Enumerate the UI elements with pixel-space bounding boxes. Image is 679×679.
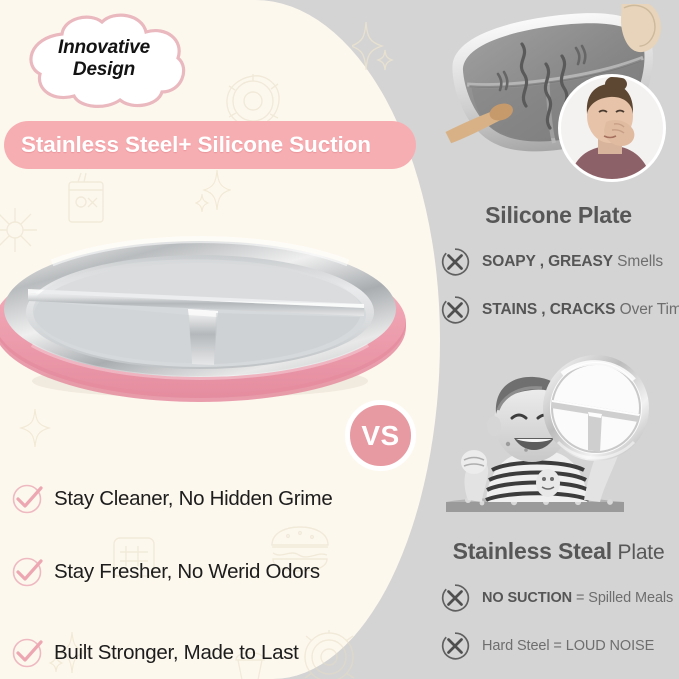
benefit-label: Stay Fresher, No Werid Odors	[54, 560, 320, 584]
list-item: Stay Fresher, No Werid Odors	[0, 545, 400, 598]
con-label: SOAPY , GREASY Smells	[482, 253, 663, 271]
list-item: STAINS , CRACKS Over Time	[438, 295, 679, 325]
bubble-line-2: Design	[73, 59, 135, 81]
list-item: NO SUCTION = Spilled Meals	[438, 583, 679, 613]
con-label: Hard Steel = LOUD NOISE	[482, 638, 654, 654]
benefits-list: Stay Cleaner, No Hidden Grime Stay Fresh…	[0, 472, 400, 679]
list-item: Hard Steel = LOUD NOISE	[438, 631, 679, 661]
silicone-plate-with-odor-photo	[438, 4, 679, 194]
baby-holding-steel-plate-photo	[438, 350, 679, 532]
x-circle-icon	[440, 247, 470, 277]
con-label-bold: STAINS , CRACKS	[482, 301, 615, 318]
con-label-normal: Smells	[613, 253, 663, 270]
list-item: SOAPY , GREASY Smells	[438, 247, 679, 277]
benefit-label: Built Stronger, Made to Last	[54, 641, 299, 665]
list-item: Stay Cleaner, No Hidden Grime	[0, 472, 400, 525]
x-circle-icon	[440, 295, 470, 325]
con-label-normal: Hard Steel = LOUD NOISE	[482, 638, 654, 654]
con-label-bold: SOAPY , GREASY	[482, 253, 613, 270]
infographic-canvas: Innovative Design Stainless Steel+ Silic…	[0, 0, 679, 679]
list-item: Built Stronger, Made to Last	[0, 626, 400, 679]
title-bold: Stainless Steal	[453, 538, 612, 564]
con-label-bold: NO SUCTION	[482, 590, 572, 606]
headline-banner: Stainless Steel+ Silicone Suction	[4, 121, 416, 169]
comparison-title-steel: Stainless Steal Plate	[438, 538, 679, 565]
con-label-normal: = Spilled Meals	[572, 590, 673, 606]
title-light: Plate	[612, 541, 665, 564]
comparison-block-silicone: Silicone Plate SOAPY , GREASY Smells	[438, 4, 679, 325]
x-circle-icon	[440, 631, 470, 661]
con-label-normal: Over Time	[615, 301, 679, 318]
innovative-design-bubble: Innovative Design	[18, 12, 190, 110]
vs-badge: VS	[345, 400, 416, 471]
title-bold: Silicone Plate	[485, 202, 632, 228]
x-circle-icon	[440, 583, 470, 613]
comparison-block-steel: Stainless Steal Plate NO SUCTION = Spill…	[438, 350, 679, 661]
con-label: STAINS , CRACKS Over Time	[482, 301, 679, 319]
woman-pinching-nose-photo	[558, 74, 666, 182]
headline-text: Stainless Steel+ Silicone Suction	[21, 132, 371, 158]
product-plate-photo	[0, 205, 412, 405]
vs-label: VS	[361, 420, 399, 452]
con-label: NO SUCTION = Spilled Meals	[482, 590, 673, 606]
bubble-line-1: Innovative	[58, 37, 150, 59]
comparison-title-silicone: Silicone Plate	[438, 202, 679, 229]
check-circle-icon	[10, 636, 44, 670]
check-circle-icon	[10, 482, 44, 516]
benefit-label: Stay Cleaner, No Hidden Grime	[54, 487, 332, 511]
check-circle-icon	[10, 555, 44, 589]
